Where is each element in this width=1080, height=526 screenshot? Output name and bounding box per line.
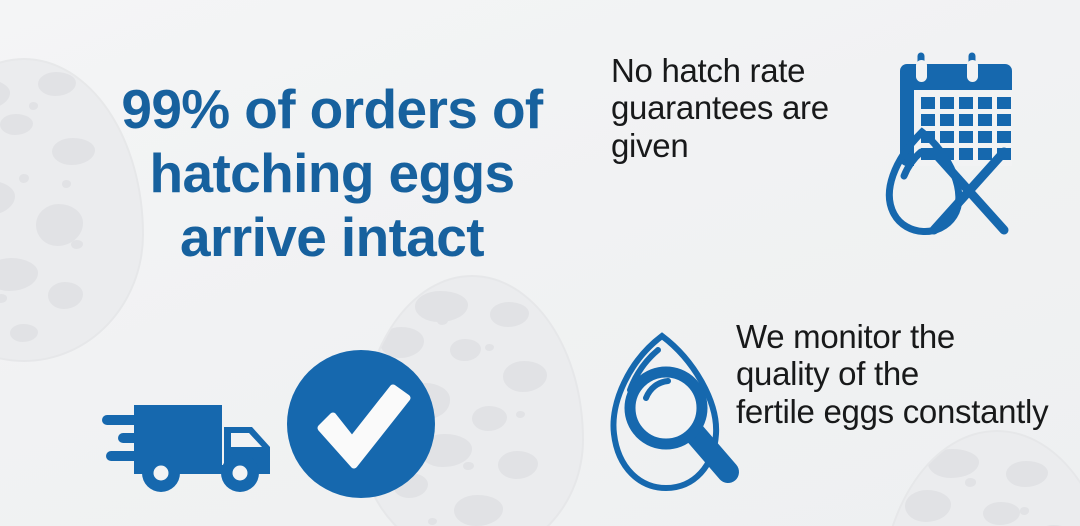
monitoring-line-1: We monitor the [736,318,1080,355]
magnifier-lens [630,372,702,444]
no-guarantee-line-2: guarantees are [611,89,901,126]
monitoring-line-2: quality of the [736,355,1080,392]
truck-wheel-rear [142,454,180,492]
delivery-truck-icon [100,385,280,495]
statement-quality-monitoring: We monitor the quality of the fertile eg… [736,318,1080,430]
calendar-body [900,60,1012,166]
background-egg-right [880,430,1080,526]
check-circle-icon [285,348,437,500]
no-guarantee-line-3: given [611,127,901,164]
egg-magnifier-icon [600,328,750,500]
monitoring-line-3: fertile eggs constantly [736,393,1080,430]
headline-line-3: arrive intact [92,206,572,270]
no-guarantee-line-1: No hatch rate [611,52,901,89]
headline-line-1: 99% of orders of [92,78,572,142]
page-title: 99% of orders of hatching eggs arrive in… [92,78,572,269]
statement-no-hatch-guarantee: No hatch rate guarantees are given [611,52,901,164]
calendar-egg-cross-icon [876,48,1016,240]
infographic-canvas: 99% of orders of hatching eggs arrive in… [0,0,1080,526]
headline-line-2: hatching eggs [92,142,572,206]
truck-wheel-front [221,454,259,492]
